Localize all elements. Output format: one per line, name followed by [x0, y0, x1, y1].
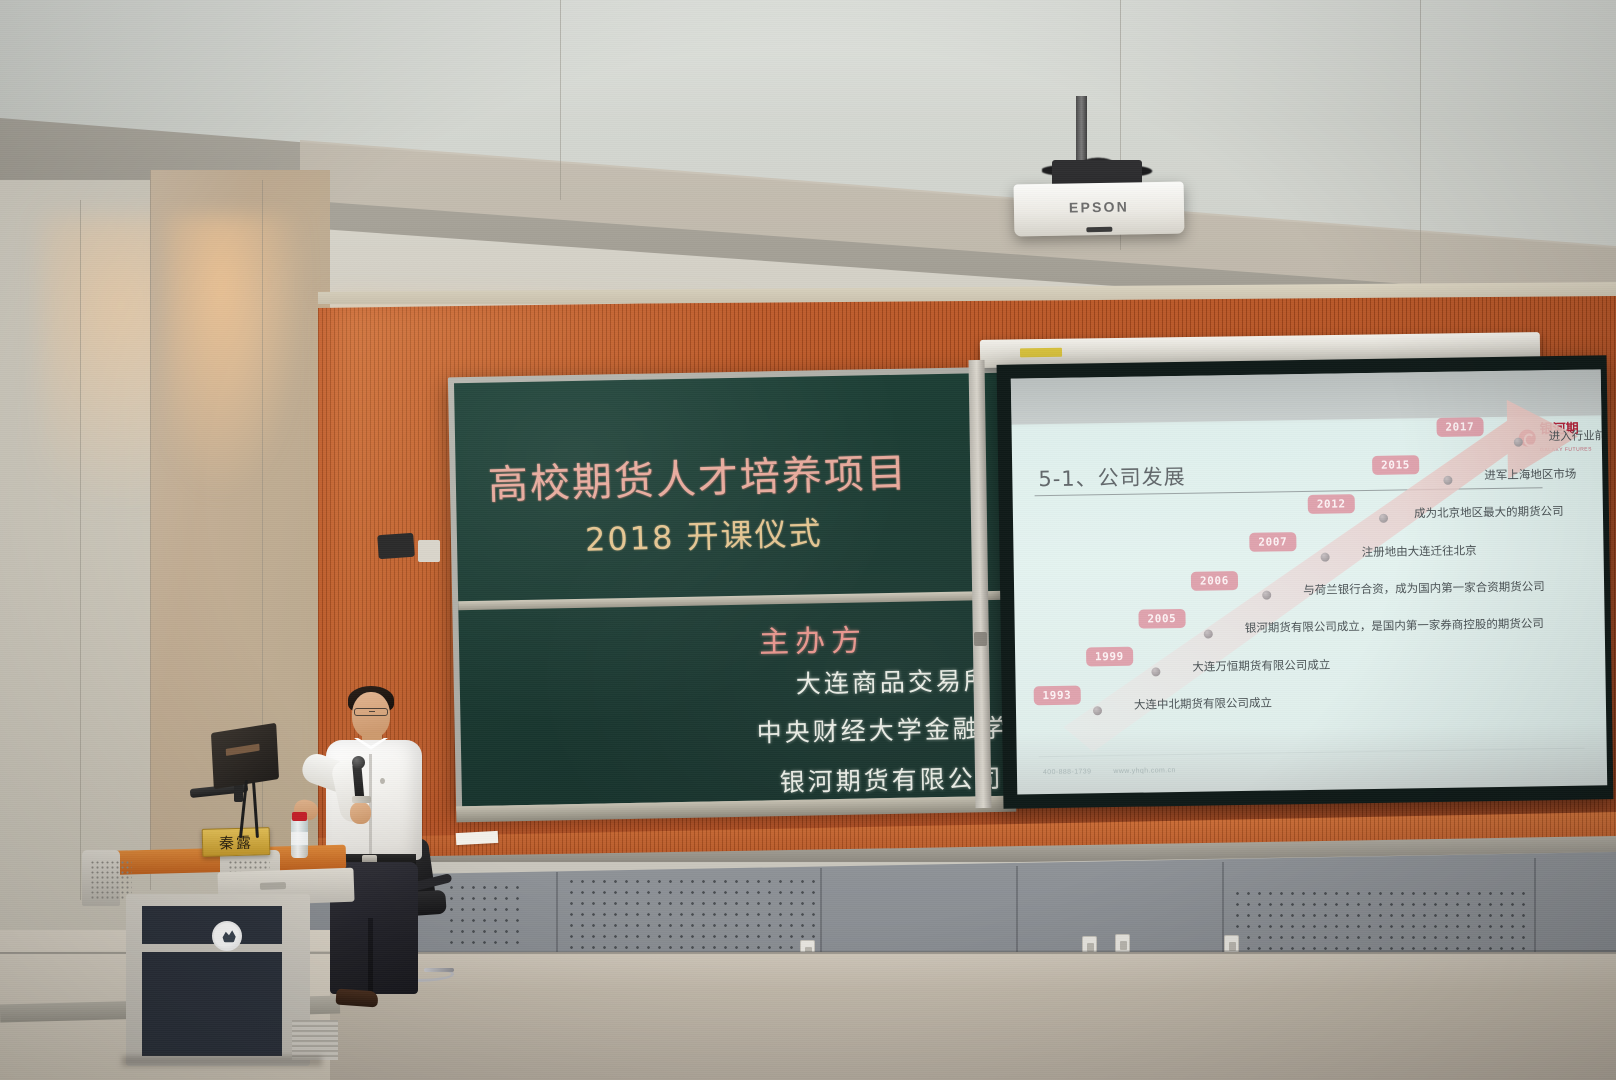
timeline-event-text: 大连中北期货有限公司成立: [1134, 695, 1272, 713]
timeline-year-badge: 1993: [1033, 685, 1080, 705]
blackboard-host-2: 中央财经大学金融学院: [756, 708, 1010, 749]
presenter-leg-split: [368, 918, 373, 996]
wall-camera-icon: [377, 533, 415, 559]
university-crest-icon: [212, 921, 242, 951]
presenter-right-hand: [350, 802, 371, 824]
blackboard-subtitle: 2018 开课仪式: [584, 508, 823, 561]
slide-footer-url: www.yhqh.com.cn: [1113, 767, 1176, 775]
lectern-shadow: [122, 1056, 322, 1066]
timeline-year-badge: 2017: [1436, 417, 1483, 437]
blackboard-title: 高校期货人才培养项目: [487, 440, 909, 510]
papers-on-ledge: [456, 831, 499, 845]
blackboard-surface: 高校期货人才培养项目 2018 开课仪式 主办方 大连商品交易所 中央财经大学金…: [454, 373, 1010, 806]
glasses-icon: [354, 708, 388, 716]
nameplate-text: 秦露: [219, 831, 254, 853]
nameplate: 秦露: [202, 827, 271, 857]
timeline-year-badge: 2012: [1308, 494, 1355, 514]
timeline-event-text: 大连万恒期货有限公司成立: [1192, 656, 1330, 674]
wristwatch: [352, 796, 371, 803]
bottle-label: [291, 832, 308, 845]
microphone-head-icon: [352, 756, 365, 769]
wall-plate: [418, 540, 440, 562]
wall-column-glow: [165, 215, 305, 495]
lectern-body: [126, 894, 310, 1066]
lecture-hall-photo: 高校期货人才培养项目 2018 开课仪式 主办方 大连商品交易所 中央财经大学金…: [0, 0, 1616, 1080]
projector: EPSON: [1014, 182, 1185, 237]
timeline-node-icon: [1443, 476, 1452, 485]
timeline-node-icon: [1204, 629, 1213, 638]
projection-screen: 银河期 GALAXY FUTURES 5-1、公司发展 1993大连中北期货有限…: [997, 355, 1614, 809]
lectern-drawer-handle[interactable]: [260, 882, 286, 890]
panel-seam: [1420, 0, 1421, 290]
presenter-shirt-logo: [380, 778, 385, 784]
blackboard-host-label: 主办方: [759, 615, 868, 661]
lectern-vent-icon: [292, 1020, 338, 1060]
timeline-event-text: 进入行业前五: [1549, 427, 1608, 444]
blackboard-host-3: 银河期货有限公司: [779, 759, 1004, 799]
projector-brand-label: EPSON: [1069, 198, 1129, 215]
slide-footer-phone: 400-888-1739: [1043, 768, 1092, 776]
timeline-node-icon: [1151, 667, 1160, 676]
timeline-node-icon: [1093, 706, 1102, 715]
timeline-event-text: 注册地由大连迁往北京: [1361, 542, 1476, 560]
blackboard-host-1: 大连商品交易所: [795, 661, 992, 701]
panel-seam: [150, 170, 151, 890]
timeline-event-text: 进军上海地区市场: [1484, 465, 1576, 482]
timeline-event-text: 成为北京地区最大的期货公司: [1414, 503, 1564, 521]
blackboard: 高校期货人才培养项目 2018 开课仪式 主办方 大连商品交易所 中央财经大学金…: [448, 367, 1016, 813]
timeline-year-badge: 2005: [1138, 609, 1185, 629]
lectern-front-upper: [142, 906, 282, 944]
slide-surface: 银河期 GALAXY FUTURES 5-1、公司发展 1993大连中北期货有限…: [1011, 369, 1607, 794]
bottle-cap-icon: [292, 812, 307, 821]
timeline-node-icon: [1513, 437, 1522, 446]
lectern[interactable]: 秦露: [82, 842, 354, 1066]
timeline-year-badge: 2015: [1372, 455, 1419, 475]
timeline-node-icon: [1320, 552, 1329, 561]
monitor-back-strip: [226, 744, 260, 756]
panel-seam: [560, 0, 561, 200]
lectern-front-door[interactable]: [142, 952, 282, 1056]
screen-label-sticker: [1020, 348, 1062, 358]
screen-rail-clip: [974, 632, 987, 646]
lectern-left-speaker: [82, 850, 120, 906]
timeline-year-badge: 2007: [1249, 532, 1296, 552]
timeline-year-badge: 1999: [1086, 647, 1133, 667]
timeline-year-badge: 2006: [1191, 571, 1238, 591]
projector-lens-icon: [1086, 227, 1112, 232]
speaker-grille-icon: [90, 860, 132, 900]
panel-seam: [80, 200, 81, 900]
